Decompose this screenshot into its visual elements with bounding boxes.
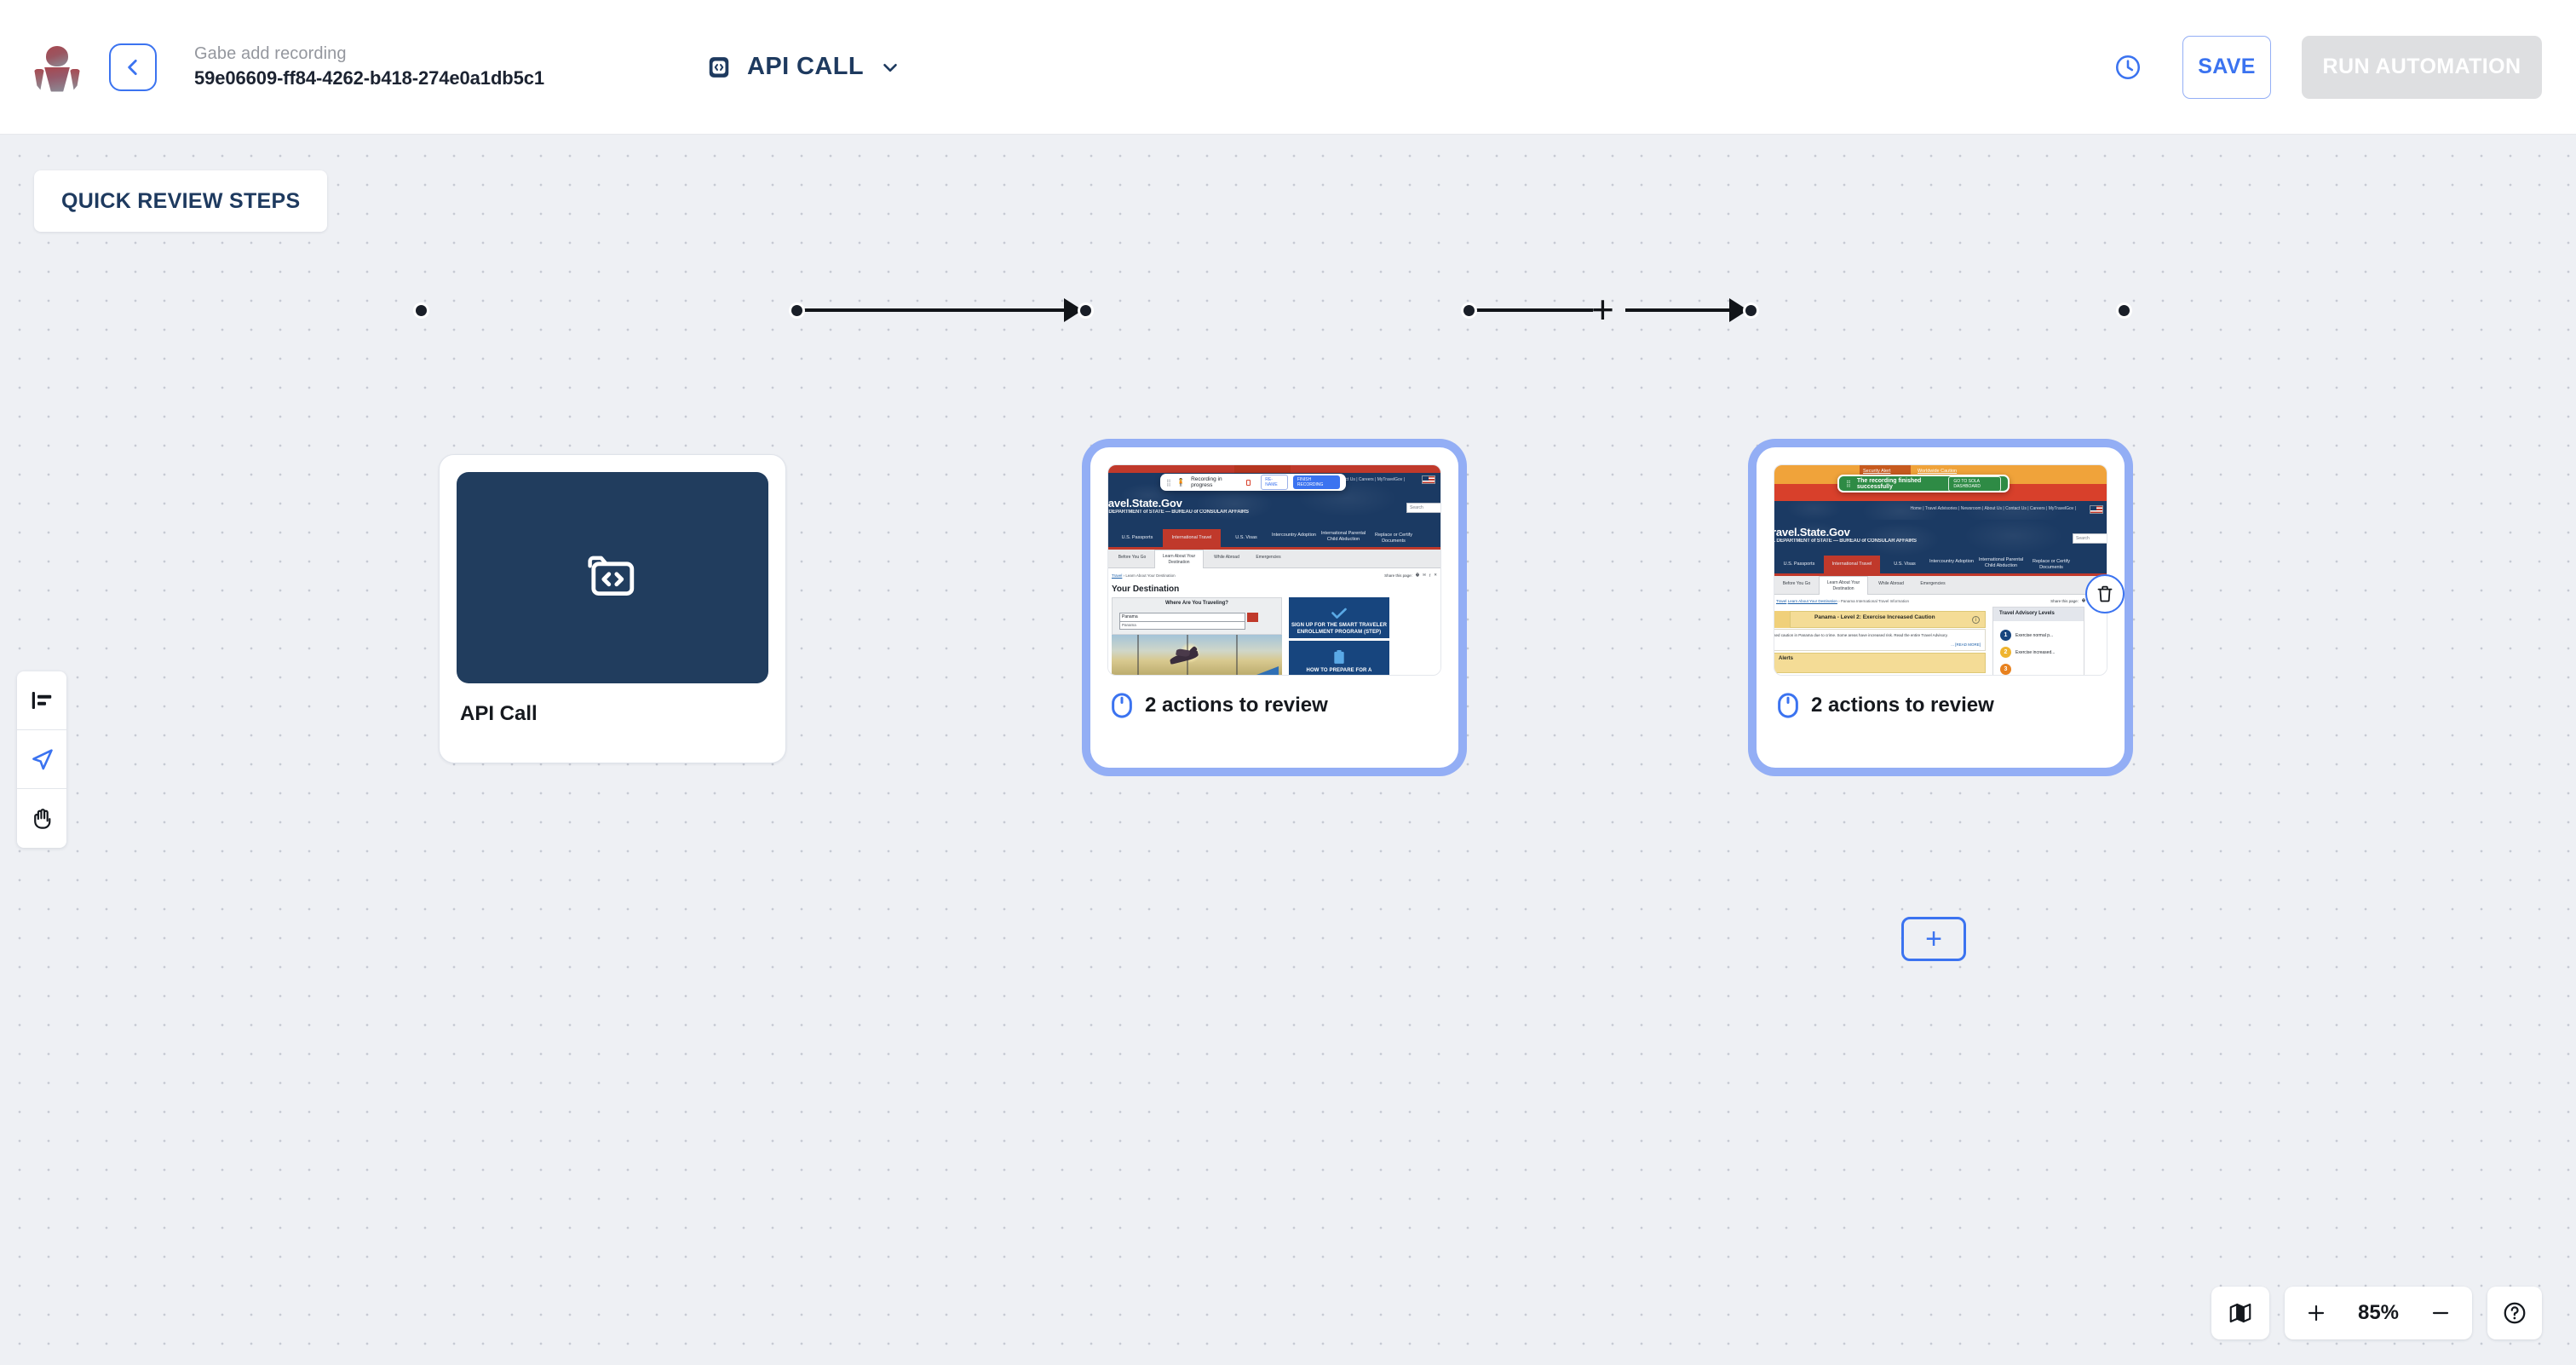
nav-item-3[interactable]: Intercountry Adoption xyxy=(1270,533,1318,539)
minimap-toggle-button[interactable] xyxy=(2211,1287,2269,1339)
subnav2-item-3[interactable]: Emergencies xyxy=(1914,581,1952,587)
logo-arm-left xyxy=(34,69,44,90)
info-circle-icon[interactable]: i xyxy=(1972,616,1980,624)
subnav-item-3[interactable]: Emergencies xyxy=(1250,555,1287,561)
security-alert-link[interactable]: Security Alert xyxy=(1863,469,1890,474)
level-3-number: 3 xyxy=(2000,664,2011,675)
nav-item-1[interactable]: International Travel xyxy=(1163,529,1221,550)
edge-out-dot-3 xyxy=(2119,305,2130,316)
add-node-button[interactable]: + xyxy=(1901,917,1966,961)
sola-robot-logo xyxy=(32,43,82,92)
flow-canvas[interactable]: QUICK REVIEW STEPS + xyxy=(0,135,2576,1365)
hand-icon xyxy=(29,805,55,832)
node-thumbnail-2: Security Alert Worldwide Caution Home | … xyxy=(1774,464,2107,676)
save-button[interactable]: SAVE xyxy=(2182,36,2271,99)
recording-avatar-icon: 🧍 xyxy=(1176,478,1186,487)
node-recording-step-2[interactable]: Security Alert Worldwide Caution Home | … xyxy=(1757,447,2125,768)
run-automation-button[interactable]: RUN AUTOMATION xyxy=(2302,36,2542,99)
site-brand-subtitle: U.S. DEPARTMENT of STATE — BUREAU of CON… xyxy=(1108,509,1249,516)
x-twitter-icon[interactable]: ✕ xyxy=(1434,573,1437,578)
advisory-level-1: 1 Exercise normal p... xyxy=(2000,630,2053,641)
level-1-text: Exercise normal p... xyxy=(2015,633,2053,638)
subnav-item-2[interactable]: While Abroad xyxy=(1207,555,1246,561)
finish-recording-button[interactable]: FINISH RECORDING xyxy=(1293,475,1340,489)
subnav-item-0[interactable]: Before You Go xyxy=(1112,555,1153,561)
destination-input[interactable]: Panama xyxy=(1119,613,1245,622)
minus-icon xyxy=(2429,1302,2452,1324)
node-type-label: API CALL xyxy=(747,53,864,81)
us-flag-icon xyxy=(1422,475,1435,484)
edge-start-dot-2 xyxy=(1463,305,1475,316)
prepare-card-label: HOW TO PREPARE FOR A xyxy=(1307,667,1372,674)
node-caption-1: 2 actions to review xyxy=(1107,693,1441,718)
advisory-title: Panama - Level 2: Exercise Increased Cau… xyxy=(1814,614,1935,620)
site-brand-title-2: Travel.State.Gov xyxy=(1774,527,1917,538)
app-header: Gabe add recording 59e06609-ff84-4262-b4… xyxy=(0,0,2576,135)
go-to-dashboard-button[interactable]: GO TO SOLA DASHBOARD xyxy=(1948,476,2001,492)
help-circle-icon xyxy=(2502,1300,2527,1326)
site-breadcrumb-2: Travel Learn About Your Destination › Pa… xyxy=(1776,599,1909,603)
site-preview-2: Security Alert Worldwide Caution Home | … xyxy=(1774,465,2107,675)
breadcrumb2-tail: › Panama International Travel Informatio… xyxy=(1838,599,1909,603)
zoom-level-value: 85% xyxy=(2353,1301,2404,1325)
recording-banner-text: Recording in progress xyxy=(1191,476,1241,488)
recording-title-block: Gabe add recording 59e06609-ff84-4262-b4… xyxy=(194,43,544,91)
recording-id: 59e06609-ff84-4262-b418-274e0a1db5c1 xyxy=(194,66,544,91)
site-main-nav: U.S. Passports International Travel U.S.… xyxy=(1108,529,1440,550)
help-button[interactable] xyxy=(2487,1287,2542,1339)
drag-handle-icon[interactable]: ⣿ xyxy=(1166,479,1171,487)
delete-node-button[interactable] xyxy=(2085,574,2125,613)
minimap-icon xyxy=(2228,1300,2253,1326)
api-call-tile xyxy=(457,472,768,683)
airplane xyxy=(1169,650,1199,665)
advisory-read-more[interactable]: ... [READ MORE] xyxy=(1951,642,1981,648)
check-icon xyxy=(1331,608,1348,619)
edge-source-dot-0 xyxy=(416,305,427,316)
step-signup-card[interactable]: SIGN UP FOR THE SMART TRAVELER ENROLLMEN… xyxy=(1289,597,1389,638)
step-signup-card-label: SIGN UP FOR THE SMART TRAVELER ENROLLMEN… xyxy=(1289,622,1389,636)
advisory-level-2: 2 Exercise increased... xyxy=(2000,647,2055,658)
destination-panel: Where Are You Traveling? Panama Panama xyxy=(1112,597,1282,635)
us-flag-icon-2 xyxy=(2090,505,2103,514)
airplane-tail xyxy=(1256,666,1279,675)
node-type-selector[interactable]: API CALL xyxy=(706,53,901,81)
subnav2-item-2[interactable]: While Abroad xyxy=(1872,581,1911,587)
recording-in-progress-banner: ⣿ 🧍 Recording in progress RE-NAME FINISH… xyxy=(1160,474,1346,491)
edge-line-2a xyxy=(1467,308,1593,312)
advisory-body-text: ...ased caution in Panama due to crime. … xyxy=(1774,633,1948,637)
history-clock-icon xyxy=(2113,53,2142,82)
node-actions-label-2: 2 actions to review xyxy=(1811,694,1994,717)
api-call-icon xyxy=(706,55,732,80)
site-main-nav-2: U.S. Passports International Travel U.S.… xyxy=(1774,556,2107,576)
node-api-call[interactable]: API Call xyxy=(439,454,786,763)
history-button[interactable] xyxy=(2104,43,2152,91)
edge-end-dot-1 xyxy=(1080,305,1091,316)
site-search-input-2[interactable]: Search xyxy=(2073,533,2107,544)
edge-line-1 xyxy=(795,308,1084,312)
node-actions-label-1: 2 actions to review xyxy=(1145,694,1328,717)
email-icon[interactable]: ✉ xyxy=(1423,573,1426,578)
site-brand: Travel.State.Gov U.S. DEPARTMENT of STAT… xyxy=(1108,498,1249,516)
align-left-icon xyxy=(29,688,55,713)
quick-review-steps-button[interactable]: QUICK REVIEW STEPS xyxy=(34,170,327,232)
node-thumbnail-1: Home | Travel Advisories | Newsroom | Ab… xyxy=(1107,464,1441,676)
subnav2-item-1[interactable]: Learn About Your Destination xyxy=(1819,576,1868,595)
banner-drag-handle-icon[interactable]: ⣿ xyxy=(1846,480,1851,487)
back-button[interactable] xyxy=(109,43,157,91)
clipboard-icon xyxy=(1333,649,1345,665)
recording-subtitle: Gabe add recording xyxy=(194,43,544,66)
site-sub-nav: Before You Go Learn About Your Destinati… xyxy=(1108,550,1440,568)
edge-end-dot-2 xyxy=(1745,305,1757,316)
breadcrumb2-mid[interactable]: Learn About Your Destination xyxy=(1788,599,1837,603)
logo-head xyxy=(46,46,68,66)
nav2-item-1[interactable]: International Travel xyxy=(1824,556,1880,576)
zoom-controls: 85% xyxy=(2285,1287,2472,1339)
nav2-item-4[interactable]: International Parental Child Abduction xyxy=(1977,557,2025,569)
subnav-item-1[interactable]: Learn About Your Destination xyxy=(1154,550,1204,568)
site-brand-2: Travel.State.Gov U.S. DEPARTMENT of STAT… xyxy=(1774,527,1917,545)
site-util-nav-2: Home | Travel Advisories | Newsroom | Ab… xyxy=(1910,506,2076,511)
advisory-levels-panel: Travel Advisory Levels 1 Exercise normal… xyxy=(1992,607,2084,675)
site-search-input[interactable]: Search xyxy=(1406,503,1440,513)
logo-arm-right xyxy=(70,69,80,90)
site-date-chip xyxy=(1234,465,1291,473)
site-preview-1: Home | Travel Advisories | Newsroom | Ab… xyxy=(1108,465,1440,675)
node-recording-step-1[interactable]: Home | Travel Advisories | Newsroom | Ab… xyxy=(1090,447,1458,768)
site-sub-nav-2: Before You Go Learn About Your Destinati… xyxy=(1774,576,2107,595)
facebook-icon[interactable]: f xyxy=(1429,573,1430,578)
breadcrumb-link[interactable]: Travel xyxy=(1112,573,1122,578)
advisory-level-badge xyxy=(1774,611,1791,628)
nav-item-5[interactable]: Replace or Certify Documents xyxy=(1369,533,1418,544)
site-share-bar: Share this page: 🖶 ✉ f ✕ xyxy=(1384,572,1437,579)
node-api-call-label: API Call xyxy=(457,702,768,726)
edge-line-2b xyxy=(1625,308,1745,312)
window-mullion-3 xyxy=(1236,635,1238,675)
stop-square-icon[interactable] xyxy=(1246,480,1251,486)
breadcrumb2-link[interactable]: Travel xyxy=(1776,599,1786,603)
advisory-body: ...ased caution in Panama due to crime. … xyxy=(1774,629,1986,651)
search-submit-button[interactable] xyxy=(1247,613,1258,622)
advisory-title-bar: Panama - Level 2: Exercise Increased Cau… xyxy=(1790,611,1986,628)
chevron-down-icon xyxy=(879,56,901,78)
level-2-number: 2 xyxy=(2000,647,2011,658)
node-caption-2: 2 actions to review xyxy=(1774,693,2107,718)
trash-icon xyxy=(2095,584,2115,604)
nav-item-2[interactable]: U.S. Visas xyxy=(1224,535,1268,541)
share-label: Share this page: xyxy=(1384,573,1412,578)
nav2-item-2[interactable]: U.S. Visas xyxy=(1883,562,1926,567)
level-1-number: 1 xyxy=(2000,630,2011,641)
pan-hand-tool[interactable] xyxy=(17,789,66,848)
canvas-tool-rail xyxy=(17,671,66,848)
edge-start-dot-1 xyxy=(791,305,802,316)
site-brand-title: Travel.State.Gov xyxy=(1108,498,1249,509)
edge-add-marker-2[interactable]: + xyxy=(1591,290,1614,329)
header-actions: SAVE RUN AUTOMATION xyxy=(2104,36,2576,99)
panel-heading: Where Are You Traveling? xyxy=(1113,601,1281,606)
destination-suggestion[interactable]: Panama xyxy=(1119,622,1245,630)
select-cursor-tool[interactable] xyxy=(17,730,66,789)
site-page-heading: Your Destination xyxy=(1112,585,1179,594)
align-left-tool[interactable] xyxy=(17,671,66,730)
advisory-level-3: 3 xyxy=(2000,664,2015,675)
plus-icon xyxy=(2305,1302,2327,1324)
advisory-levels-heading: Travel Advisory Levels xyxy=(1993,608,2084,621)
prepare-card[interactable]: HOW TO PREPARE FOR A xyxy=(1289,641,1389,675)
folder-code-icon xyxy=(582,547,643,608)
nav2-item-0[interactable]: U.S. Passports xyxy=(1776,562,1822,567)
breadcrumb-tail: › Learn About Your Destination xyxy=(1124,573,1176,578)
logo-body xyxy=(44,67,70,92)
site-brand-subtitle-2: U.S. DEPARTMENT of STATE — BUREAU of CON… xyxy=(1774,538,1917,545)
alerts-heading: Alerts xyxy=(1779,656,1793,661)
cursor-arrow-icon xyxy=(29,746,55,773)
nav-item-4[interactable]: International Parental Child Abduction xyxy=(1320,531,1367,543)
print-icon[interactable]: 🖶 xyxy=(1416,572,1419,579)
rename-button[interactable]: RE-NAME xyxy=(1261,475,1288,490)
mouse-icon xyxy=(1777,693,1799,718)
mouse-icon xyxy=(1111,693,1133,718)
canvas-bottom-controls: 85% xyxy=(2211,1287,2542,1339)
advisory-alerts-bar: Alerts xyxy=(1774,653,1986,673)
recording-finished-banner: ⣿ The recording finished successfully GO… xyxy=(1837,475,2010,492)
subnav2-item-0[interactable]: Before You Go xyxy=(1776,581,1817,587)
zoom-out-button[interactable] xyxy=(2423,1295,2458,1331)
zoom-in-button[interactable] xyxy=(2298,1295,2334,1331)
airport-photo xyxy=(1112,635,1282,675)
window-mullion-1 xyxy=(1137,635,1139,675)
share-label-2: Share this page: xyxy=(2050,599,2079,603)
print-icon-2[interactable]: 🖶 xyxy=(2082,597,2085,604)
nav2-item-3[interactable]: Intercountry Adoption xyxy=(1928,559,1975,565)
chevron-left-icon xyxy=(122,56,144,78)
nav-item-0[interactable]: U.S. Passports xyxy=(1113,535,1161,541)
worldwide-caution-link[interactable]: Worldwide Caution xyxy=(1918,469,1957,474)
recording-finished-text: The recording finished successfully xyxy=(1857,478,1936,490)
nav2-item-5[interactable]: Replace or Certify Documents xyxy=(2027,559,2076,571)
level-2-text: Exercise increased... xyxy=(2015,650,2055,655)
site-breadcrumb: Travel › Learn About Your Destination xyxy=(1112,573,1176,578)
